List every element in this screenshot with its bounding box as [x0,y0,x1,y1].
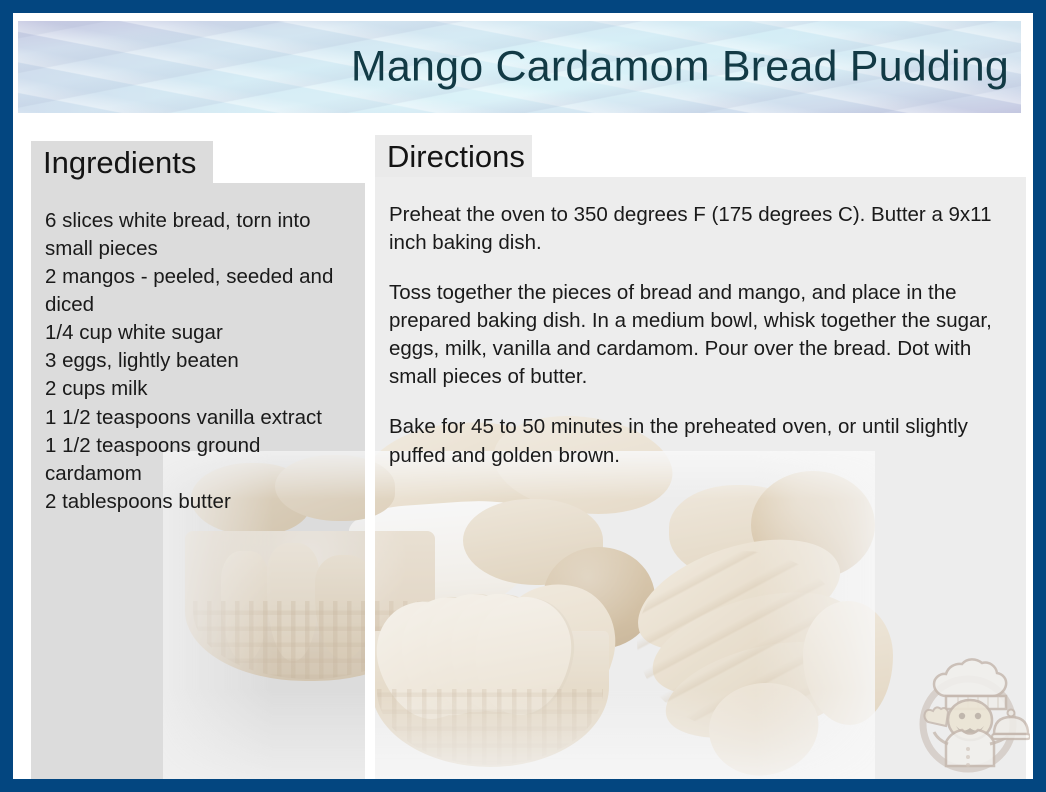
directions-panel-body: Preheat the oven to 350 degrees F (175 d… [375,177,1026,470]
directions-section-tab: Directions [375,135,532,177]
direction-step: Preheat the oven to 350 degrees F (175 d… [389,201,1006,257]
ingredients-list: 6 slices white bread, torn into small pi… [45,207,349,516]
directions-heading: Directions [387,141,525,172]
chef-with-cloche-logo [906,656,1030,779]
title-banner: Mango Cardamom Bread Pudding [18,21,1021,113]
ingredients-panel-body: 6 slices white bread, torn into small pi… [31,183,365,516]
panel-seam [365,177,375,779]
ingredient-item: 3 eggs, lightly beaten [45,347,349,375]
directions-steps: Preheat the oven to 350 degrees F (175 d… [389,201,1010,470]
ingredients-heading: Ingredients [43,147,196,178]
ingredients-section-tab: Ingredients [31,141,213,183]
ingredient-item: 2 tablespoons butter [45,488,349,516]
ingredient-item: 2 cups milk [45,375,349,403]
recipe-title: Mango Cardamom Bread Pudding [351,44,1009,89]
ingredient-item: 1/4 cup white sugar [45,319,349,347]
ingredient-item: 6 slices white bread, torn into small pi… [45,207,349,263]
card-inner-matte: Mango Cardamom Bread Pudding Ingredients… [13,13,1033,779]
ingredients-panel: 6 slices white bread, torn into small pi… [31,183,365,779]
direction-step: Bake for 45 to 50 minutes in the preheat… [389,413,1006,469]
ingredient-item: 2 mangos - peeled, seeded and diced [45,263,349,319]
recipe-card: Mango Cardamom Bread Pudding Ingredients… [0,0,1046,792]
ingredient-item: 1 1/2 teaspoons vanilla extract [45,404,349,432]
ingredient-item: 1 1/2 teaspoons ground cardamom [45,432,349,488]
direction-step: Toss together the pieces of bread and ma… [389,279,1006,391]
